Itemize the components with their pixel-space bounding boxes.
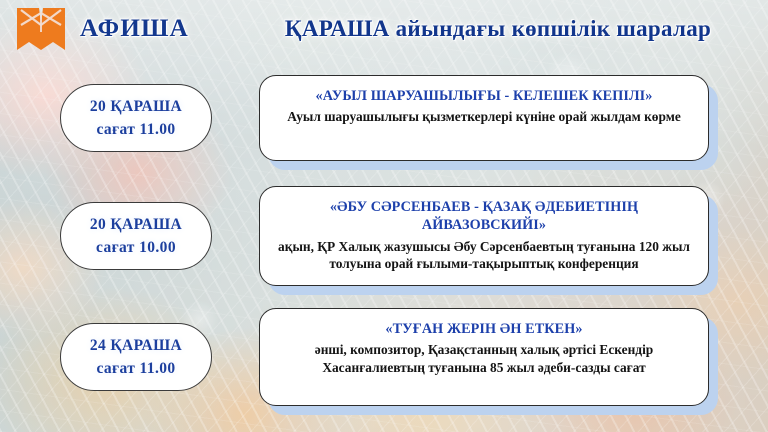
- brand-title: АФИША: [80, 15, 189, 43]
- event-time: сағат 11.00: [96, 360, 175, 378]
- poster-canvas: АФИША ҚАРАША айындағы көпшілік шаралар 2…: [0, 0, 768, 432]
- event-date-badge[interactable]: 24 ҚАРАША сағат 11.00: [60, 323, 212, 391]
- poster-header: АФИША ҚАРАША айындағы көпшілік шаралар: [0, 0, 768, 58]
- events-list: 20 ҚАРАША сағат 11.00 «АУЫЛ ШАРУАШЫЛЫҒЫ …: [0, 58, 768, 432]
- event-row: 20 ҚАРАША сағат 11.00 «АУЫЛ ШАРУАШЫЛЫҒЫ …: [0, 62, 768, 174]
- event-date-badge[interactable]: 20 ҚАРАША сағат 10.00: [60, 202, 212, 270]
- event-card[interactable]: «ТУҒАН ЖЕРІН ӘН ЕТКЕН» әнші, композитор,…: [259, 308, 709, 406]
- event-time: сағат 10.00: [96, 239, 176, 257]
- event-description: әнші, композитор, Қазақстанның халық әрт…: [276, 341, 692, 377]
- event-date-badge[interactable]: 20 ҚАРАША сағат 11.00: [60, 84, 212, 152]
- event-title: «АУЫЛ ШАРУАШЫЛЫҒЫ - КЕЛЕШЕК КЕПІЛІ»: [276, 87, 692, 105]
- event-date: 20 ҚАРАША: [90, 216, 182, 234]
- logo: [12, 3, 70, 57]
- event-card-slot: «ТУҒАН ЖЕРІН ӘН ЕТКЕН» әнші, композитор,…: [259, 308, 709, 406]
- page-title: ҚАРАША айындағы көпшілік шаралар: [236, 16, 760, 42]
- event-card-slot: «АУЫЛ ШАРУАШЫЛЫҒЫ - КЕЛЕШЕК КЕПІЛІ» Ауыл…: [259, 75, 709, 161]
- event-card[interactable]: «АУЫЛ ШАРУАШЫЛЫҒЫ - КЕЛЕШЕК КЕПІЛІ» Ауыл…: [259, 75, 709, 161]
- event-time: сағат 11.00: [96, 121, 175, 139]
- event-title: «ТУҒАН ЖЕРІН ӘН ЕТКЕН»: [276, 320, 692, 338]
- event-card[interactable]: «ӘБУ СӘРСЕНБАЕВ - ҚАЗАҚ ӘДЕБИЕТІНІҢ АЙВА…: [259, 186, 709, 287]
- event-date: 24 ҚАРАША: [90, 337, 182, 355]
- orange-open-book-icon: [15, 6, 67, 54]
- event-row: 24 ҚАРАША сағат 11.00 «ТУҒАН ЖЕРІН ӘН ЕТ…: [0, 298, 768, 416]
- event-date: 20 ҚАРАША: [90, 98, 182, 116]
- event-description: ақын, ҚР Халық жазушысы Әбу Сәрсенбаевты…: [276, 238, 692, 274]
- event-card-slot: «ӘБУ СӘРСЕНБАЕВ - ҚАЗАҚ ӘДЕБИЕТІНІҢ АЙВА…: [259, 186, 709, 287]
- event-description: Ауыл шаруашылығы қызметкерлері күніне ор…: [276, 108, 692, 126]
- event-title: «ӘБУ СӘРСЕНБАЕВ - ҚАЗАҚ ӘДЕБИЕТІНІҢ АЙВА…: [276, 198, 692, 235]
- event-row: 20 ҚАРАША сағат 10.00 «ӘБУ СӘРСЕНБАЕВ - …: [0, 180, 768, 292]
